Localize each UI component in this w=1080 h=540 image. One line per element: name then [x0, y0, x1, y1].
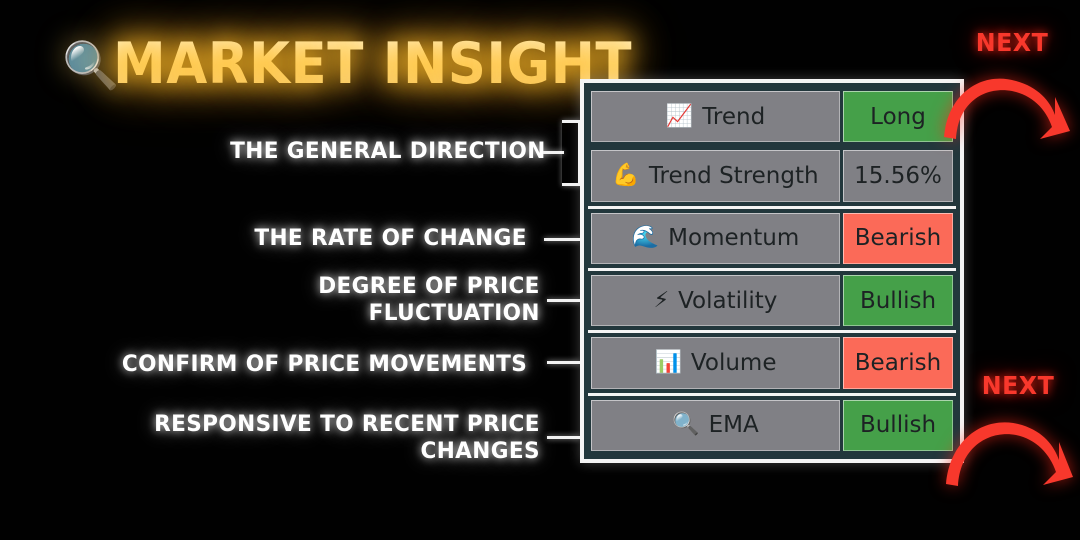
magnifying-glass-icon: 🔍	[62, 42, 119, 88]
metric-value-cell: 15.56%	[843, 150, 953, 201]
connector-dash-rate-of-change	[544, 238, 580, 241]
table-row[interactable]: 🌊 Momentum Bearish	[588, 209, 956, 268]
annotation-label-responsive-to-recent-price-changes: RESPONSIVE TO RECENT PRICE CHANGES	[154, 411, 540, 465]
metric-name: Trend Strength	[649, 163, 819, 189]
table-row[interactable]: 🔍 EMA Bullish	[588, 396, 956, 455]
next-label: NEXT	[955, 30, 1069, 55]
table-row[interactable]: 📈 Trend Long	[588, 87, 956, 146]
row-group-volume: 📊 Volume Bearish	[588, 333, 956, 395]
metric-label-cell: 🌊 Momentum	[591, 213, 840, 264]
curved-arrow-down-right-icon	[942, 57, 1072, 145]
metric-value-cell: Long	[843, 91, 953, 142]
annotation-label-general-direction: THE GENERAL DIRECTION	[230, 138, 546, 165]
next-label: NEXT	[961, 373, 1075, 398]
row-group-trend: 📈 Trend Long 💪 Trend Strength 15.56%	[588, 87, 956, 209]
annotation-label-rate-of-change: THE RATE OF CHANGE	[254, 225, 527, 252]
indicator-table: 📈 Trend Long 💪 Trend Strength 15.56%	[580, 79, 964, 463]
curved-arrow-down-right-icon	[944, 400, 1074, 492]
connector-dash-volume	[547, 361, 580, 364]
metric-name: Momentum	[668, 225, 799, 251]
flexed-biceps-icon: 💪	[612, 165, 639, 187]
market-insight-slide: 🔍 MARKET INSIGHT THE GENERAL DIRECTION T…	[0, 0, 1080, 540]
metric-label-cell: 💪 Trend Strength	[591, 150, 840, 201]
page-title-text: MARKET INSIGHT	[113, 36, 632, 93]
metric-label-cell: 📈 Trend	[591, 91, 840, 142]
metric-value-cell: Bullish	[843, 400, 953, 451]
metric-value-cell: Bullish	[843, 275, 953, 326]
metric-name: Trend	[702, 104, 765, 130]
table-row[interactable]: ⚡ Volatility Bullish	[588, 271, 956, 330]
row-group-volatility: ⚡ Volatility Bullish	[588, 271, 956, 333]
metric-value-cell: Bearish	[843, 213, 953, 264]
table-row[interactable]: 📊 Volume Bearish	[588, 333, 956, 392]
table-row[interactable]: 💪 Trend Strength 15.56%	[588, 146, 956, 205]
metric-label-cell: ⚡ Volatility	[591, 275, 840, 326]
row-group-momentum: 🌊 Momentum Bearish	[588, 209, 956, 271]
metric-value-cell: Bearish	[843, 337, 953, 388]
metric-name: EMA	[709, 412, 759, 438]
annotation-label-confirm-of-price-movements: CONFIRM OF PRICE MOVEMENTS	[122, 351, 527, 378]
next-marker-bottom[interactable]: NEXT	[958, 373, 1078, 492]
connector-bracket-general-direction	[562, 120, 581, 186]
connector-dash-ema	[547, 436, 580, 439]
next-marker-top[interactable]: NEXT	[952, 30, 1072, 145]
magnifying-glass-icon: 🔍	[672, 414, 699, 436]
metric-name: Volume	[691, 350, 777, 376]
connector-dash-volatility	[547, 299, 580, 302]
annotation-label-degree-of-price-fluctuation: DEGREE OF PRICE FLUCTUATION	[318, 273, 540, 327]
row-group-ema: 🔍 EMA Bullish	[588, 396, 956, 455]
high-voltage-icon: ⚡	[654, 290, 669, 312]
chart-increasing-icon: 📈	[666, 106, 693, 128]
metric-name: Volatility	[678, 288, 777, 314]
water-wave-icon: 🌊	[632, 227, 659, 249]
bar-chart-icon: 📊	[655, 352, 682, 374]
metric-label-cell: 📊 Volume	[591, 337, 840, 388]
metric-label-cell: 🔍 EMA	[591, 400, 840, 451]
connector-bracket-stem	[543, 151, 564, 154]
